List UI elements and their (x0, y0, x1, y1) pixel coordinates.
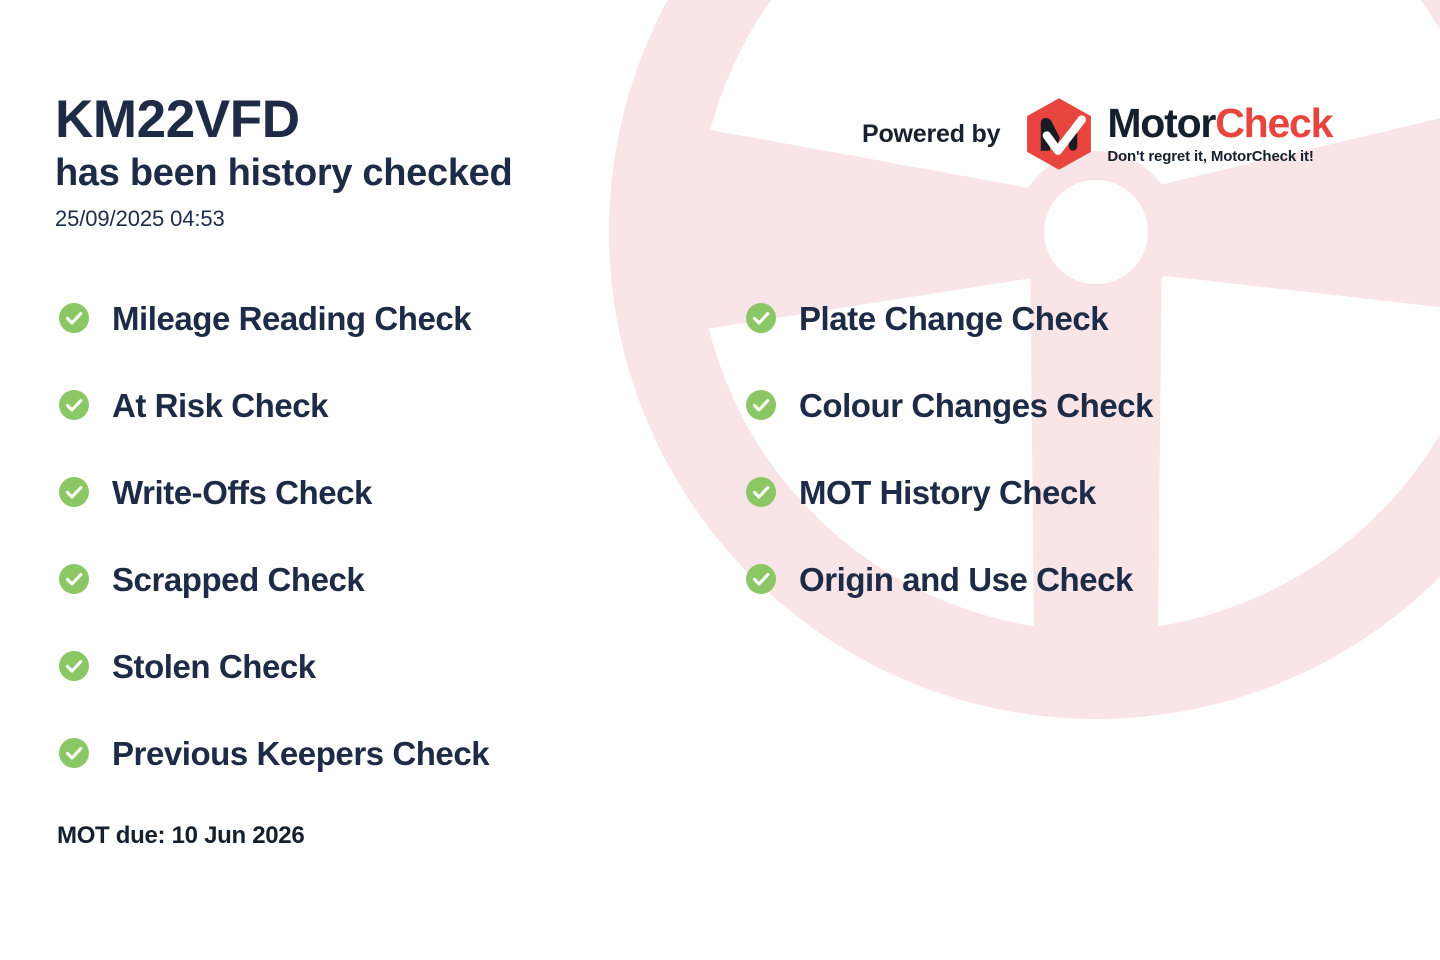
check-item: Mileage Reading Check (58, 296, 489, 340)
motorcheck-hexagon-icon (1021, 96, 1097, 172)
checks-column-left: Mileage Reading Check At Risk Check Writ… (58, 296, 489, 775)
check-item: Origin and Use Check (745, 557, 1153, 601)
motorcheck-wordmark: MotorCheck (1107, 103, 1332, 144)
check-label: Stolen Check (112, 650, 316, 683)
powered-by-block: Powered by MotorCheck Don't regret it, M… (862, 96, 1332, 172)
check-circle-icon (58, 737, 90, 769)
checks-column-right: Plate Change Check Colour Changes Check … (745, 296, 1153, 601)
check-item: MOT History Check (745, 470, 1153, 514)
brand-tagline: Don't regret it, MotorCheck it! (1107, 148, 1332, 165)
check-timestamp: 25/09/2025 04:53 (55, 206, 512, 232)
header-block: KM22VFD has been history checked 25/09/2… (55, 92, 512, 232)
check-label: Scrapped Check (112, 563, 364, 596)
motorcheck-logo[interactable]: MotorCheck Don't regret it, MotorCheck i… (1021, 96, 1332, 172)
check-label: Mileage Reading Check (112, 302, 471, 335)
motorcheck-wordmark-block: MotorCheck Don't regret it, MotorCheck i… (1107, 103, 1332, 165)
wordmark-motor: Motor (1107, 100, 1215, 146)
mot-due-label: MOT due: 10 Jun 2026 (57, 822, 304, 850)
check-label: Previous Keepers Check (112, 737, 489, 770)
check-item: Stolen Check (58, 644, 489, 688)
check-label: Write-Offs Check (112, 476, 372, 509)
check-circle-icon (58, 476, 90, 508)
check-circle-icon (745, 389, 777, 421)
check-item: Colour Changes Check (745, 383, 1153, 427)
check-label: Plate Change Check (799, 302, 1108, 335)
page-title: has been history checked (55, 151, 512, 196)
check-circle-icon (745, 563, 777, 595)
powered-by-label: Powered by (862, 120, 1000, 149)
check-item: At Risk Check (58, 383, 489, 427)
check-item: Scrapped Check (58, 557, 489, 601)
check-item: Plate Change Check (745, 296, 1153, 340)
vehicle-registration: KM22VFD (55, 92, 512, 149)
history-check-card: KM22VFD has been history checked 25/09/2… (0, 0, 1440, 960)
check-circle-icon (58, 389, 90, 421)
check-circle-icon (745, 476, 777, 508)
check-label: Colour Changes Check (799, 389, 1153, 422)
check-label: MOT History Check (799, 476, 1096, 509)
check-circle-icon (745, 302, 777, 334)
check-label: Origin and Use Check (799, 563, 1133, 596)
check-circle-icon (58, 563, 90, 595)
check-item: Previous Keepers Check (58, 731, 489, 775)
check-circle-icon (58, 650, 90, 682)
check-circle-icon (58, 302, 90, 334)
check-label: At Risk Check (112, 389, 328, 422)
wordmark-check: Check (1215, 100, 1332, 146)
check-item: Write-Offs Check (58, 470, 489, 514)
